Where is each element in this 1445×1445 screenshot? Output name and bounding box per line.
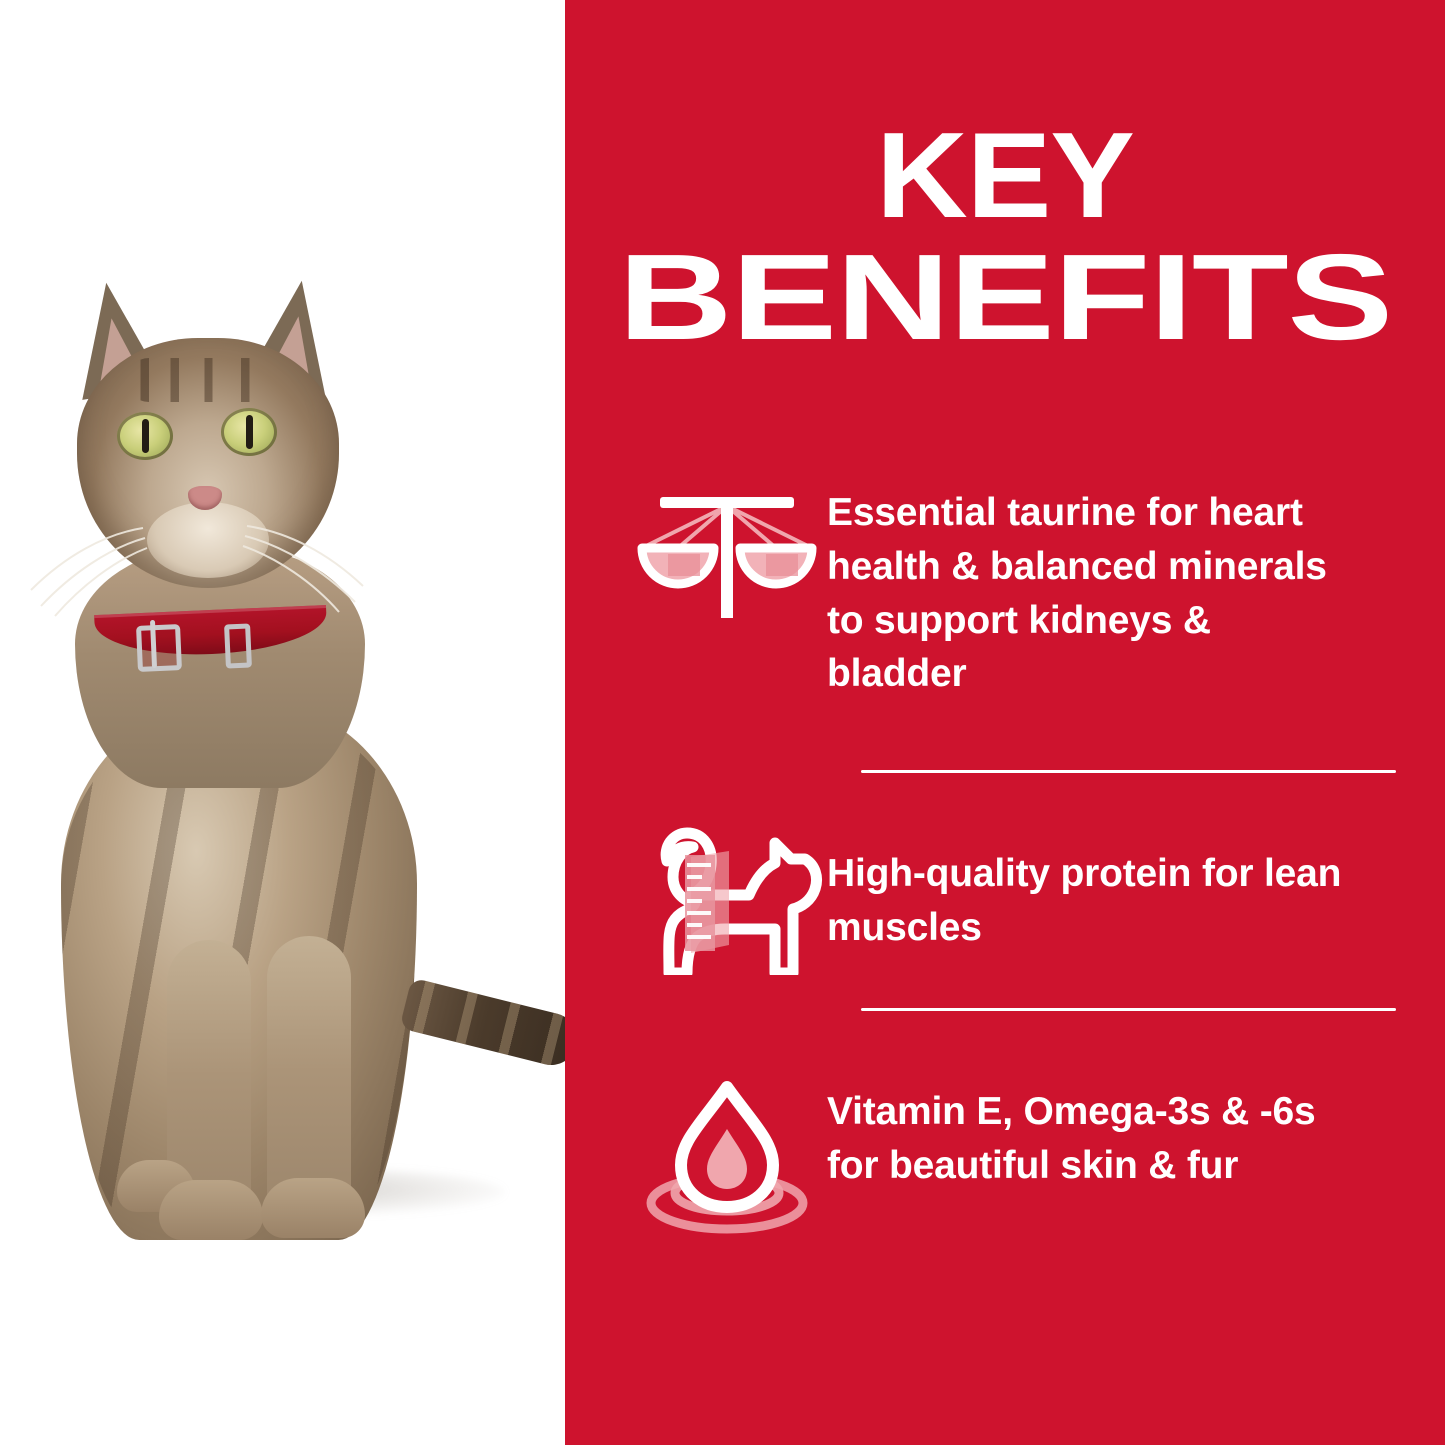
cat-muzzle bbox=[147, 502, 269, 578]
page-title: KEY BENEFITS bbox=[565, 118, 1445, 356]
balance-scale-icon bbox=[627, 480, 827, 636]
cat-tail-stripes bbox=[399, 977, 565, 1070]
benefit-divider-1 bbox=[861, 770, 1396, 773]
benefit-divider-2 bbox=[861, 1008, 1396, 1011]
cat-eye-left bbox=[117, 412, 173, 460]
water-droplet-ripple-icon bbox=[627, 1075, 827, 1229]
benefit-text-3: Vitamin E, Omega-3s & -6s for beautiful … bbox=[827, 1075, 1357, 1193]
cat-measuring-tape-icon bbox=[627, 825, 827, 975]
cat-paw-left bbox=[159, 1180, 263, 1240]
benefits-panel: KEY BENEFITS bbox=[565, 0, 1445, 1445]
cat-forehead-stripes bbox=[127, 358, 295, 402]
cat-collar-loop bbox=[224, 623, 252, 668]
cat-eye-right bbox=[221, 408, 277, 456]
cat-illustration bbox=[55, 280, 525, 1215]
title-line-key: KEY bbox=[547, 118, 1445, 234]
cat-pupil-left bbox=[142, 419, 149, 453]
cat-photo-panel bbox=[0, 0, 565, 1445]
benefit-text-2: High-quality protein for lean muscles bbox=[827, 825, 1357, 955]
cat-paw-right bbox=[261, 1178, 365, 1238]
cat-photo bbox=[0, 0, 565, 1445]
benefit-item-1: Essential taurine for heart health & bal… bbox=[627, 480, 1427, 701]
benefit-text-1: Essential taurine for heart health & bal… bbox=[827, 480, 1357, 701]
cat-collar-buckle bbox=[136, 624, 182, 672]
benefit-item-3: Vitamin E, Omega-3s & -6s for beautiful … bbox=[627, 1075, 1427, 1229]
cat-pupil-right bbox=[246, 415, 253, 449]
key-benefits-panel: KEY BENEFITS bbox=[0, 0, 1445, 1445]
benefit-item-2: High-quality protein for lean muscles bbox=[627, 825, 1427, 975]
title-line-benefits: BENEFITS bbox=[433, 240, 1445, 356]
